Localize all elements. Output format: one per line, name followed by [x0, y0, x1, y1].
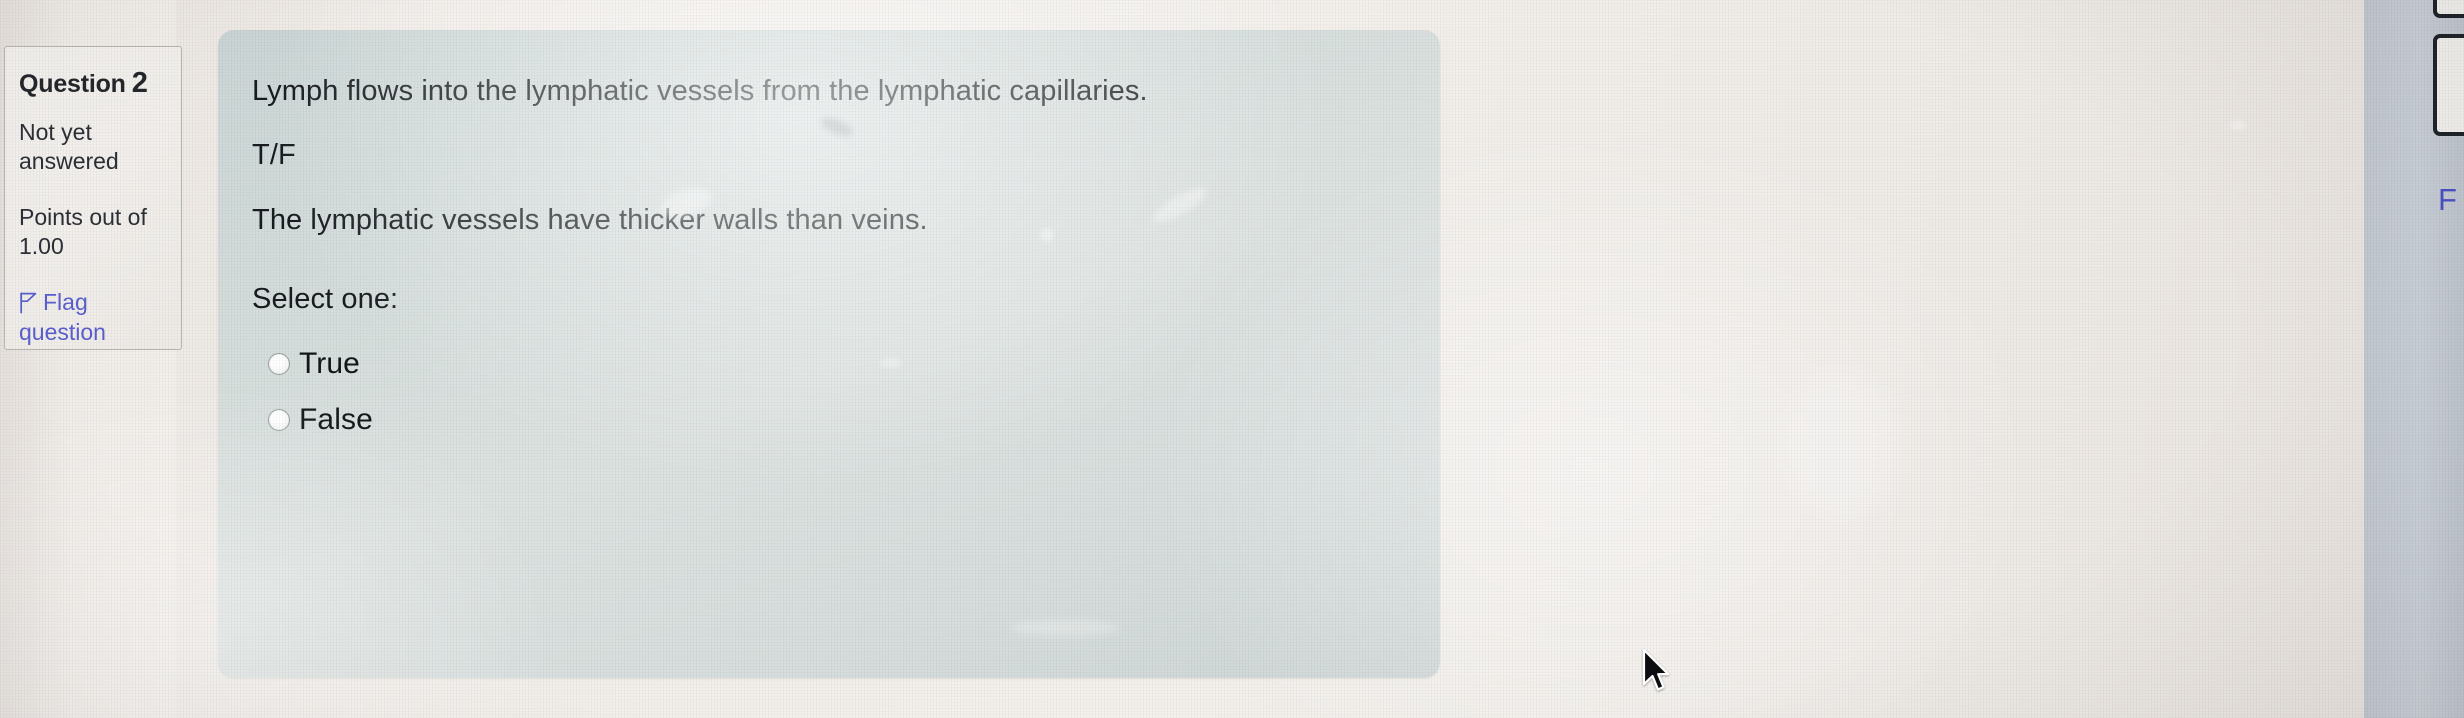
- answer-option-true[interactable]: True: [252, 342, 1416, 386]
- adjacent-box-bottom: [2433, 34, 2464, 136]
- answer-label-true: True: [299, 347, 360, 381]
- question-statement-2: The lymphatic vessels have thicker walls…: [252, 203, 1416, 237]
- radio-button-true[interactable]: [268, 353, 290, 375]
- answer-options: True False: [252, 342, 1416, 442]
- flag-icon: [19, 292, 38, 314]
- question-state: Not yet answered: [19, 118, 139, 177]
- question-title: Question2: [19, 69, 167, 98]
- answer-option-false[interactable]: False: [252, 398, 1416, 442]
- question-body: Lymph flows into the lymphatic vessels f…: [252, 74, 1416, 442]
- question-panel: Lymph flows into the lymphatic vessels f…: [218, 30, 1440, 678]
- screenshot-stage: Question2 Not yet answered Points out of…: [0, 0, 2464, 718]
- adjacent-box-top: [2433, 0, 2464, 18]
- select-one-prompt: Select one:: [252, 283, 1416, 316]
- question-points: Points out of 1.00: [19, 203, 149, 262]
- question-number: 2: [132, 67, 148, 99]
- question-type-hint: T/F: [252, 138, 1416, 172]
- question-info-box: Question2 Not yet answered Points out of…: [4, 46, 182, 350]
- flag-question-link[interactable]: Flag question: [19, 288, 151, 348]
- question-title-label: Question: [19, 70, 126, 98]
- question-statement-1: Lymph flows into the lymphatic vessels f…: [252, 74, 1416, 108]
- answer-label-false: False: [299, 403, 373, 437]
- adjacent-flag-text: F: [2438, 182, 2457, 218]
- radio-button-false[interactable]: [268, 409, 290, 431]
